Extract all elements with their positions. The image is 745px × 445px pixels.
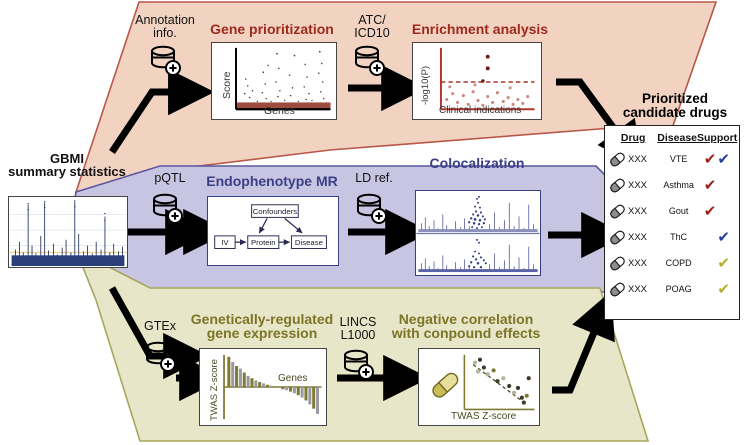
database-icon-atc bbox=[352, 44, 386, 78]
table-header-row: Drug Disease Support bbox=[605, 126, 739, 146]
support-check-primary: ✔ bbox=[704, 178, 717, 193]
support-check-primary: ✔ bbox=[704, 152, 717, 167]
cell-drug: XXX bbox=[609, 178, 659, 193]
figure-root: GBMI summary statistics bbox=[0, 0, 745, 445]
drug-name: XXX bbox=[628, 180, 647, 191]
manhattan-svg bbox=[9, 197, 127, 267]
pill-icon bbox=[609, 152, 626, 167]
enrichment-analysis-plot: -log10(P) Clinical indications bbox=[412, 42, 542, 120]
mr-diagram-panel: Confounders IV Protein Disease bbox=[207, 196, 339, 266]
pill-icon bbox=[609, 282, 626, 297]
ld-ref-label: LD ref. bbox=[344, 172, 404, 185]
svg-text:Confounders: Confounders bbox=[253, 207, 298, 216]
drug-name: XXX bbox=[628, 284, 647, 295]
table-row[interactable]: XXX Gout ✔ ✔ bbox=[605, 198, 739, 224]
cell-drug: XXX bbox=[609, 230, 659, 245]
svg-text:IV: IV bbox=[221, 238, 229, 247]
twas-xlabel: Genes bbox=[278, 373, 307, 384]
enrichment-ylabel: -log10(P) bbox=[420, 66, 431, 105]
table-row[interactable]: XXX ThC ✔ ✔ bbox=[605, 224, 739, 250]
cell-support: ✔ ✔ bbox=[699, 178, 735, 193]
cell-disease: Gout bbox=[659, 206, 699, 216]
cell-drug: XXX bbox=[609, 282, 659, 297]
cell-support: ✔ ✔ bbox=[699, 204, 735, 219]
twas-ylabel: TWAS Z-score bbox=[209, 359, 220, 421]
support-check-secondary: ✔ bbox=[717, 230, 730, 245]
annotation-info-label: Annotation info. bbox=[128, 14, 202, 40]
colocalization-plot bbox=[415, 190, 541, 276]
cell-drug: XXX bbox=[609, 152, 659, 167]
column-header-disease: Disease bbox=[657, 132, 697, 144]
svg-text:Protein: Protein bbox=[251, 238, 276, 247]
cell-support: ✔ ✔ bbox=[699, 282, 735, 297]
gtex-label: GTEx bbox=[132, 320, 188, 333]
drug-name: XXX bbox=[628, 258, 647, 269]
enrichment-xlabel: Clinical indications bbox=[439, 105, 521, 116]
twas-expression-title: Genetically-regulated gene expression bbox=[186, 312, 338, 341]
pill-icon bbox=[609, 256, 626, 271]
cell-support: ✔ ✔ bbox=[699, 152, 735, 167]
colocalization-title: Colocalization bbox=[404, 156, 550, 170]
database-icon-pqtl bbox=[150, 192, 184, 226]
drug-name: XXX bbox=[628, 154, 647, 165]
table-row[interactable]: XXX VTE ✔ ✔ bbox=[605, 146, 739, 172]
column-header-support: Support bbox=[697, 132, 735, 144]
svg-text:Disease: Disease bbox=[295, 238, 323, 247]
gene-prioritization-xlabel: Genes bbox=[264, 105, 295, 117]
table-row[interactable]: XXX POAG ✔ ✔ bbox=[605, 276, 739, 302]
enrichment-analysis-title: Enrichment analysis bbox=[400, 22, 560, 36]
twas-expression-plot: TWAS Z-score Genes bbox=[199, 348, 327, 426]
cell-disease: VTE bbox=[659, 154, 699, 164]
manhattan-plot bbox=[8, 196, 128, 268]
table-row[interactable]: XXX Asthma ✔ ✔ bbox=[605, 172, 739, 198]
cell-disease: POAG bbox=[659, 284, 699, 294]
drug-name: XXX bbox=[628, 206, 647, 217]
support-check-secondary: ✔ bbox=[717, 256, 730, 271]
table-row[interactable]: XXX COPD ✔ ✔ bbox=[605, 250, 739, 276]
negative-correlation-title: Negative correlation with conpound effec… bbox=[382, 312, 550, 341]
pill-icon bbox=[609, 178, 626, 193]
database-icon-ldref bbox=[354, 192, 388, 226]
column-header-drug: Drug bbox=[609, 132, 657, 144]
candidate-drugs-table: Drug Disease Support XXX VTE ✔ ✔ XXX Ast… bbox=[604, 125, 740, 320]
database-icon-annotation bbox=[148, 44, 182, 78]
gene-prioritization-ylabel: Score bbox=[221, 72, 233, 99]
endophenotype-mr-title: Endophenotype MR bbox=[196, 174, 348, 188]
support-check-primary: ✔ bbox=[704, 204, 717, 219]
cell-support: ✔ ✔ bbox=[699, 256, 735, 271]
arrow-bottom-to-table bbox=[552, 318, 600, 390]
pill-icon bbox=[609, 204, 626, 219]
colocalization-svg bbox=[416, 191, 540, 275]
gene-prioritization-plot: Score Genes bbox=[211, 42, 337, 120]
table-body: XXX VTE ✔ ✔ XXX Asthma ✔ ✔ XXX bbox=[605, 146, 739, 302]
prioritized-drugs-title: Prioritized candidate drugs bbox=[612, 92, 738, 120]
database-icon-gtex bbox=[143, 340, 177, 374]
cell-drug: XXX bbox=[609, 204, 659, 219]
arrow-to-gene-prioritization bbox=[112, 92, 185, 152]
lincs-label: LINCS L1000 bbox=[330, 316, 386, 342]
database-icon-lincs bbox=[341, 348, 375, 382]
cell-drug: XXX bbox=[609, 256, 659, 271]
pill-icon bbox=[609, 230, 626, 245]
mr-dag-svg: Confounders IV Protein Disease bbox=[208, 197, 338, 265]
cell-disease: Asthma bbox=[659, 180, 699, 190]
pqtl-label: pQTL bbox=[140, 172, 200, 185]
drug-name: XXX bbox=[628, 232, 647, 243]
negative-correlation-plot: TWAS Z-score bbox=[418, 348, 540, 426]
cell-disease: COPD bbox=[659, 258, 699, 268]
support-check-secondary: ✔ bbox=[717, 282, 730, 297]
cell-support: ✔ ✔ bbox=[699, 230, 735, 245]
cell-disease: ThC bbox=[659, 232, 699, 242]
gbmi-label: GBMI summary statistics bbox=[6, 152, 128, 179]
gene-prioritization-title: Gene prioritization bbox=[198, 22, 346, 36]
support-check-secondary: ✔ bbox=[717, 152, 730, 167]
negcorr-xlabel: TWAS Z-score bbox=[451, 411, 516, 422]
atc-icd10-label: ATC/ ICD10 bbox=[342, 14, 402, 40]
